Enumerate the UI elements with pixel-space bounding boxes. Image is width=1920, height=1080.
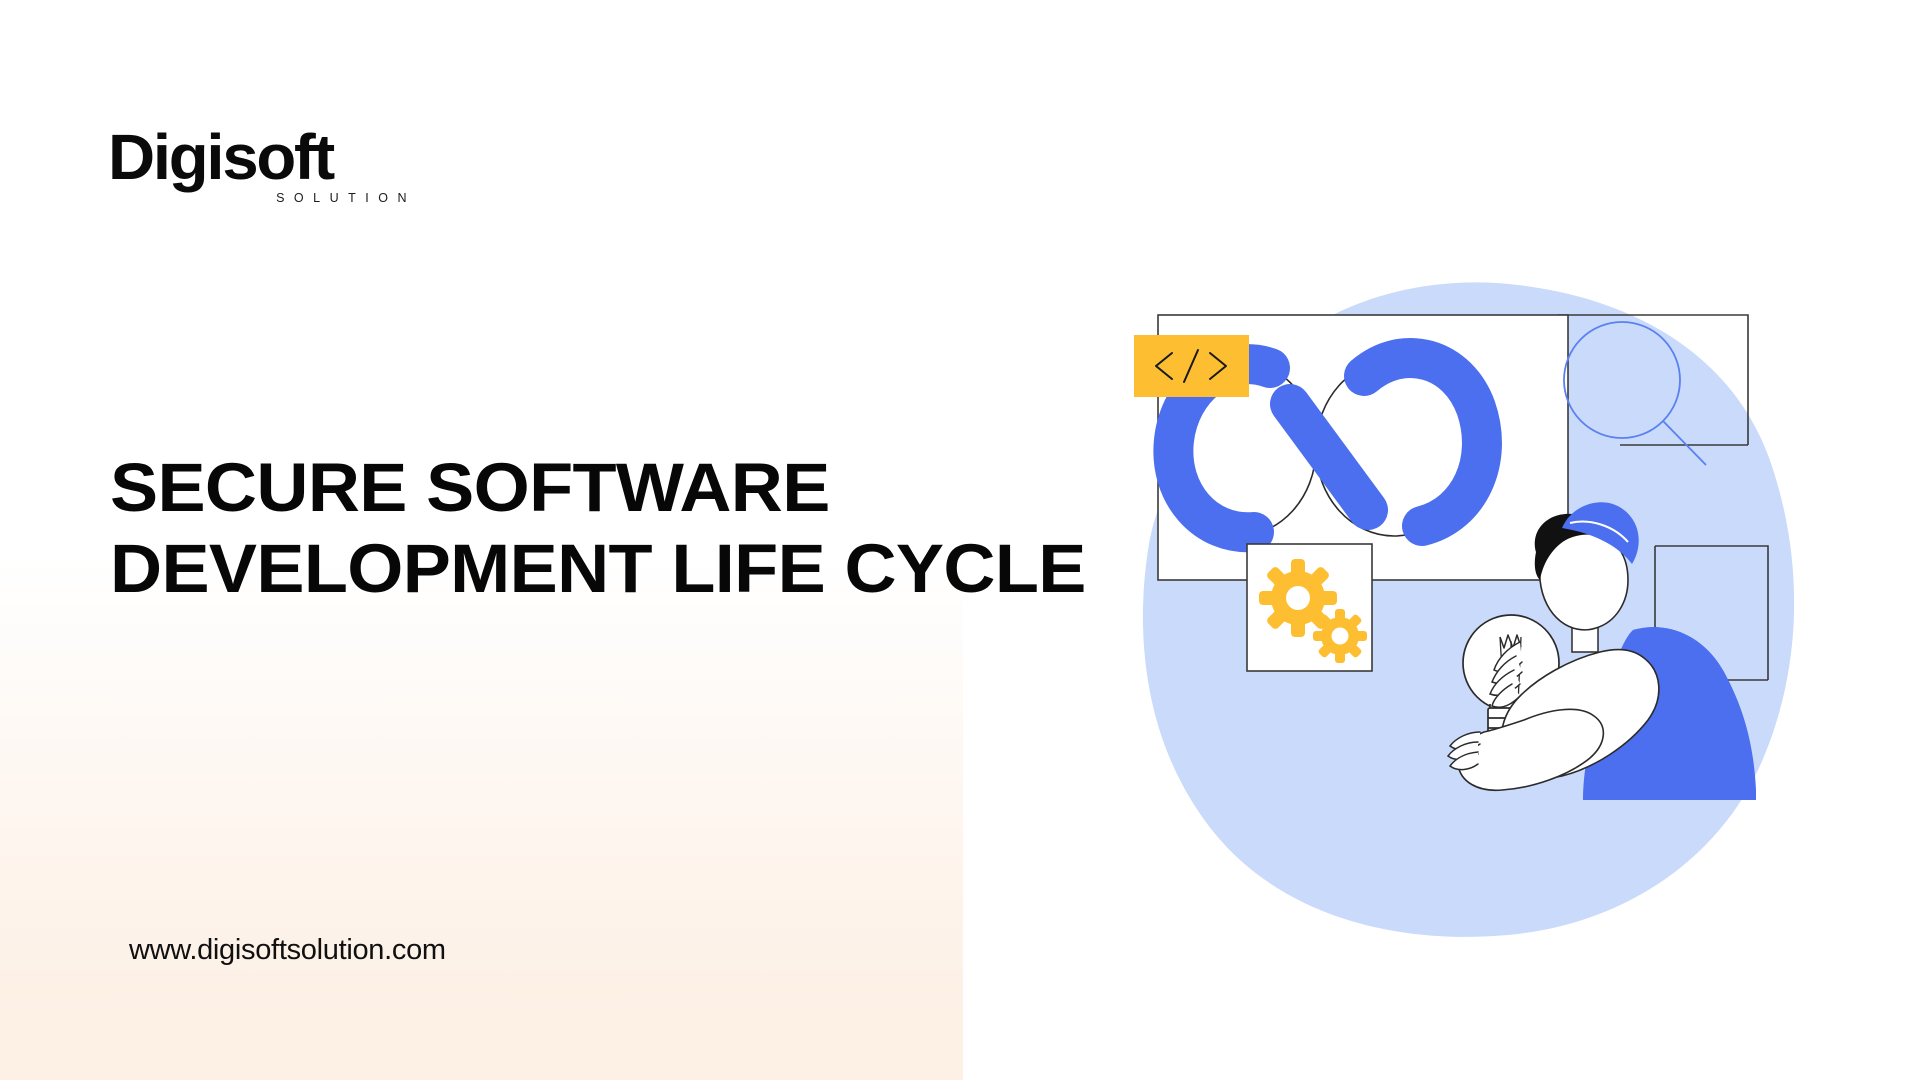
page-title: SECURE SOFTWARE DEVELOPMENT LIFE CYCLE [110, 448, 1165, 609]
secure-sdlc-illustration [1128, 280, 1808, 940]
gear-small [1313, 609, 1367, 663]
headline-line-1: SECURE SOFTWARE [110, 448, 1165, 529]
gears-card [1247, 544, 1372, 671]
code-badge [1134, 335, 1249, 397]
website-url[interactable]: www.digisoftsolution.com [129, 934, 446, 967]
headline-line-2: DEVELOPMENT LIFE CYCLE [110, 529, 1165, 610]
cream-gradient-panel [0, 560, 963, 1080]
brand-logo[interactable]: Digisoft SOLUTION [108, 128, 418, 205]
logo-wordmark: Digisoft [108, 128, 424, 187]
banner-canvas: Digisoft SOLUTION SECURE SOFTWARE DEVELO… [0, 0, 1920, 1080]
